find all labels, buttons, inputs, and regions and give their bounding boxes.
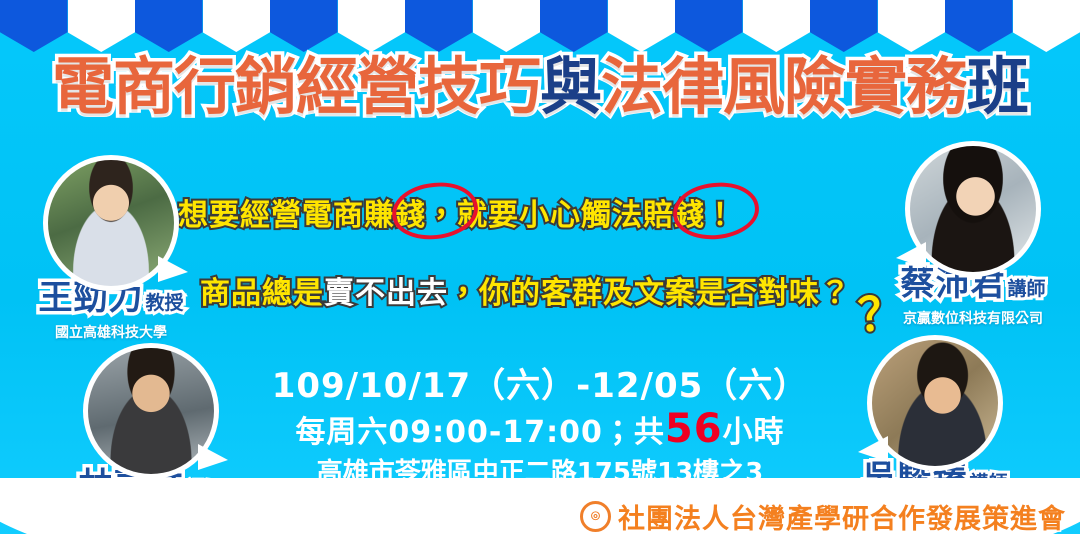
speech-bubble-tail bbox=[858, 436, 888, 462]
organization-name: 社團法人台灣產學研合作發展策進會 bbox=[618, 497, 1066, 536]
title-segment-2: 與 bbox=[540, 56, 601, 118]
presenter-name: 蔡沛君 bbox=[900, 264, 1005, 304]
presenter-portrait-image bbox=[910, 146, 1036, 272]
footer-organization: ⌾ 社團法人台灣產學研合作發展策進會 bbox=[580, 497, 1066, 536]
title-segment-1: 電商行銷經營技巧 bbox=[52, 56, 540, 118]
speech-bubble-tail bbox=[158, 256, 188, 282]
title-segment-4: 班 bbox=[967, 56, 1028, 118]
title-segment-3: 法律風險實務 bbox=[601, 56, 967, 118]
presenter-organization: 國立高雄科技大學 bbox=[6, 322, 216, 342]
course-promo-banner: 電商行銷經營技巧與法律風險實務班 想要經營電商賺錢，就要小心觸法賠錢！ 商品總是… bbox=[0, 0, 1080, 540]
headline-2-seg-3: ，你的客群及文案是否對味？ bbox=[448, 276, 851, 311]
pennant-white bbox=[338, 0, 406, 52]
speech-bubble-tail bbox=[198, 444, 228, 470]
presenter-name: 王勁力 bbox=[38, 278, 143, 318]
organization-logo-icon: ⌾ bbox=[580, 501, 611, 532]
pennant-blue bbox=[945, 0, 1013, 52]
speech-bubble-tail bbox=[896, 242, 926, 268]
pennant-white bbox=[1013, 0, 1080, 52]
headline-2-seg-1: 商品總是 bbox=[200, 276, 324, 311]
presenter-card-cai-peijun: 蔡沛君講師 京贏數位科技有限公司 bbox=[868, 146, 1078, 328]
pennant-white bbox=[743, 0, 811, 52]
pennant-white bbox=[68, 0, 136, 52]
pennant-blue bbox=[810, 0, 878, 52]
schedule-time-text: 每周六09:00-17:00；共 bbox=[295, 415, 664, 450]
pennant-blue bbox=[675, 0, 743, 52]
presenter-photo-bubble bbox=[872, 340, 998, 466]
pennant-blue bbox=[405, 0, 473, 52]
presenter-organization: 京贏數位科技有限公司 bbox=[868, 308, 1078, 328]
banner-title: 電商行銷經營技巧與法律風險實務班 bbox=[0, 56, 1080, 118]
presenter-card-wang-jinli: 王勁力教授 國立高雄科技大學 bbox=[6, 160, 216, 342]
headline-2-seg-2-emphasis: 賣不出去 bbox=[324, 276, 448, 311]
pennant-white bbox=[203, 0, 271, 52]
schedule-hours-unit: 小時 bbox=[723, 415, 785, 450]
presenter-photo-bubble bbox=[48, 160, 174, 286]
headline-1-seg-3: ，就要小心觸法 bbox=[426, 198, 643, 233]
pennant-white bbox=[473, 0, 541, 52]
headline-line-2: 商品總是賣不出去，你的客群及文案是否對味？ bbox=[200, 268, 900, 312]
presenter-portrait-image bbox=[88, 348, 214, 474]
top-pennant-border bbox=[0, 0, 1080, 52]
presenter-portrait-image bbox=[872, 340, 998, 466]
presenter-role: 講師 bbox=[1007, 278, 1045, 300]
headline-1-seg-4-circled: 賠錢 bbox=[643, 198, 705, 233]
pennant-blue bbox=[135, 0, 203, 52]
pennant-blue bbox=[270, 0, 338, 52]
headline-1-seg-5: ！ bbox=[705, 198, 736, 233]
pennant-blue bbox=[0, 0, 68, 52]
pennant-white bbox=[608, 0, 676, 52]
pennant-white bbox=[878, 0, 946, 52]
headline-line-1: 想要經營電商賺錢，就要小心觸法賠錢！ bbox=[178, 190, 878, 234]
presenter-portrait-image bbox=[48, 160, 174, 286]
pennant-blue bbox=[540, 0, 608, 52]
headline-1-seg-2-circled: 賺錢 bbox=[364, 198, 426, 233]
presenter-photo-bubble bbox=[88, 348, 214, 474]
presenter-role: 教授 bbox=[145, 292, 183, 314]
total-hours-number: 56 bbox=[665, 406, 723, 452]
presenter-photo-bubble bbox=[910, 146, 1036, 272]
